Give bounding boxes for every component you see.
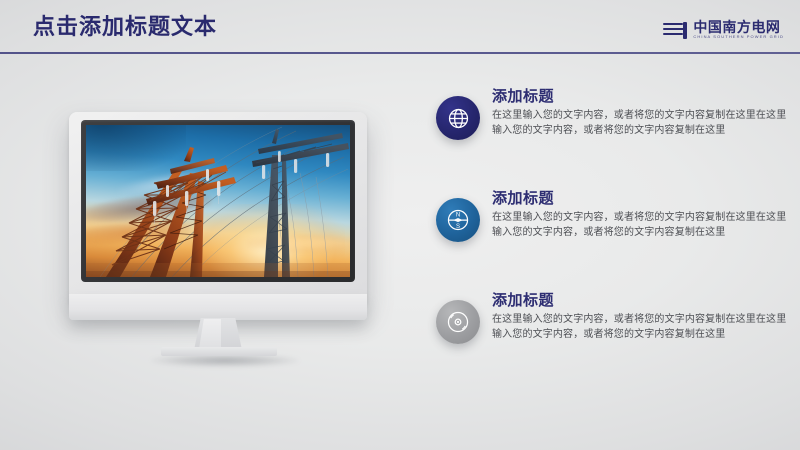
content-block-3-title: 添加标题 [492,291,790,310]
slide-canvas: 点击添加标题文本 中国南方电网 CHINA SOUTHERN POWER GRI… [0,0,800,450]
content-block-3-body: 在这里输入您的文字内容，或者将您的文字内容复制在这里在这里输入您的文字内容，或者… [492,313,790,342]
power-grid-lines-mark-icon [663,22,687,39]
disc-icon [436,300,480,344]
page-title: 点击添加标题文本 [33,14,217,40]
monitor-stand-base [161,347,277,356]
transmission-tower-artwork-icon [86,125,350,277]
monitor-mockup [48,104,388,364]
content-block-1: 添加标题 在这里输入您的文字内容，或者将您的文字内容复制在这里在这里输入您的文字… [430,82,790,174]
content-block-1-text: 添加标题 在这里输入您的文字内容，或者将您的文字内容复制在这里在这里输入您的文字… [492,82,790,138]
monitor-screen [86,125,350,277]
compass-icon: N S [436,198,480,242]
content-block-2-text: 添加标题 在这里输入您的文字内容，或者将您的文字内容复制在这里在这里输入您的文字… [492,184,790,240]
header-divider [0,52,800,54]
globe-icon [436,96,480,140]
content-block-1-body: 在这里输入您的文字内容，或者将您的文字内容复制在这里在这里输入您的文字内容，或者… [492,109,790,138]
content-block-1-title: 添加标题 [492,87,790,106]
content-block-2-body: 在这里输入您的文字内容，或者将您的文字内容复制在这里在这里输入您的文字内容，或者… [492,211,790,240]
brand-logo-text: 中国南方电网 CHINA SOUTHERN POWER GRID [693,20,784,40]
content-block-3-text: 添加标题 在这里输入您的文字内容，或者将您的文字内容复制在这里在这里输入您的文字… [492,286,790,342]
svg-text:S: S [456,224,460,230]
brand-name-cn: 中国南方电网 [693,20,784,34]
content-block-3: 添加标题 在这里输入您的文字内容，或者将您的文字内容复制在这里在这里输入您的文字… [430,286,790,378]
brand-logo: 中国南方电网 CHINA SOUTHERN POWER GRID [663,19,784,41]
monitor-chin [69,294,367,320]
content-block-2: N S 添加标题 在这里输入您的文字内容，或者将您的文字内容复制在这里在这里输入… [430,184,790,276]
content-block-list: 添加标题 在这里输入您的文字内容，或者将您的文字内容复制在这里在这里输入您的文字… [430,82,790,378]
svg-text:N: N [456,212,460,218]
content-block-2-title: 添加标题 [492,189,790,208]
brand-name-en: CHINA SOUTHERN POWER GRID [693,34,784,40]
slide-header: 点击添加标题文本 中国南方电网 CHINA SOUTHERN POWER GRI… [0,0,800,53]
